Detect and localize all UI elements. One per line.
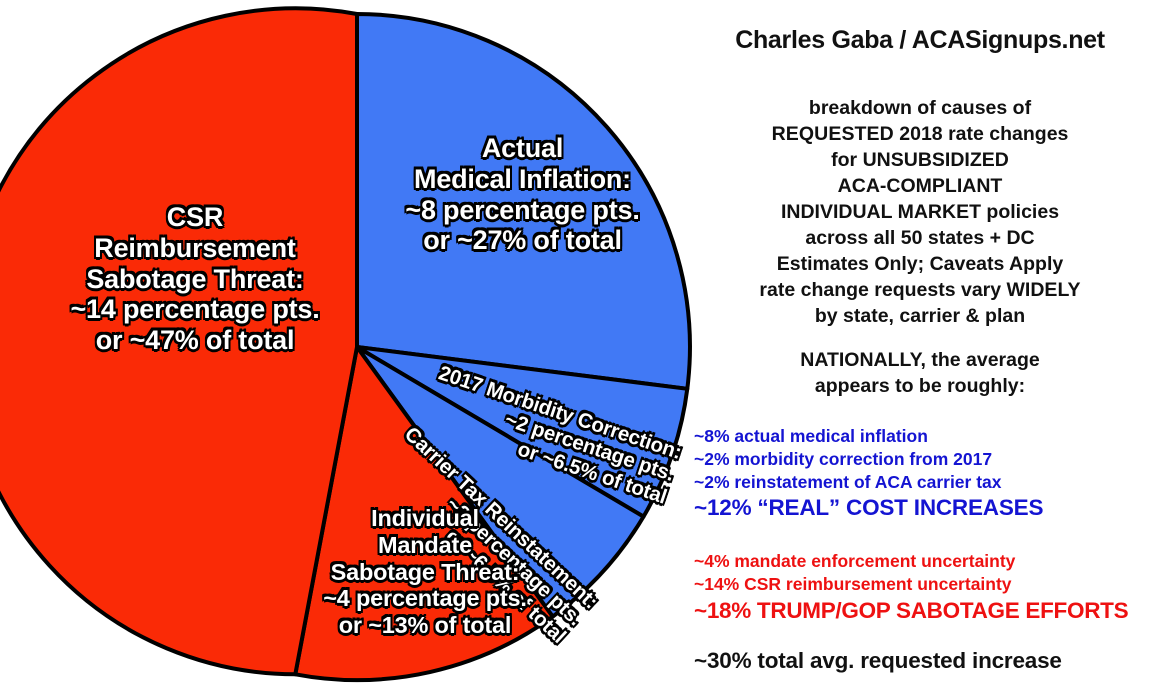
description-emphasis: REQUESTED: [772, 123, 894, 145]
description-line-1: breakdown of causes of: [690, 96, 1150, 122]
caveats-line-3: by state, carrier & plan: [690, 304, 1150, 330]
real-cost-stat-carrier-tax: ~2% reinstatement of ACA carrier tax: [694, 471, 1150, 494]
real-cost-stat-total: ~12% “REAL” COST INCREASES: [694, 493, 1150, 522]
description-line-5: INDIVIDUAL MARKET policies: [690, 200, 1150, 226]
sabotage-stat-csr-reimbursement: ~14% CSR reimbursement uncertainty: [694, 573, 1150, 596]
real-cost-stat-morbidity-correction: ~2% morbidity correction from 2017: [694, 448, 1150, 471]
national-line-1: NATIONALLY, the average: [690, 348, 1150, 374]
description-line-2-rest: 2018 rate changes: [894, 123, 1069, 145]
national-average-block: NATIONALLY, the average appears to be ro…: [690, 348, 1150, 400]
grand-total-line: ~30% total avg. requested increase: [690, 648, 1150, 674]
description-line-3: for UNSUBSIDIZED: [690, 148, 1150, 174]
pie-chart-panel: CSR Reimbursement Sabotage Threat: ~14 p…: [0, 0, 700, 700]
info-panel: Charles Gaba / ACASignups.net breakdown …: [690, 0, 1150, 700]
sabotage-stats-block: ~4% mandate enforcement uncertainty ~14%…: [690, 550, 1150, 625]
real-cost-stat-medical-inflation: ~8% actual medical inflation: [694, 425, 1150, 448]
description-line-2: REQUESTED 2018 rate changes: [690, 122, 1150, 148]
sabotage-stat-total: ~18% TRUMP/GOP SABOTAGE EFFORTS: [694, 596, 1150, 625]
pie-slice-actual-medical-inflation[interactable]: [357, 14, 690, 389]
pie-chart-svg: [0, 0, 700, 700]
caveats-line-2: rate change requests vary WIDELY: [690, 278, 1150, 304]
description-line-4: ACA-COMPLIANT: [690, 174, 1150, 200]
national-line-2: appears to be roughly:: [690, 374, 1150, 400]
real-cost-stats-block: ~8% actual medical inflation ~2% morbidi…: [690, 425, 1150, 523]
credit-line: Charles Gaba / ACASignups.net: [690, 26, 1150, 55]
description-block: breakdown of causes of REQUESTED 2018 ra…: [690, 96, 1150, 252]
caveats-line-1: Estimates Only; Caveats Apply: [690, 252, 1150, 278]
sabotage-stat-mandate-enforcement: ~4% mandate enforcement uncertainty: [694, 550, 1150, 573]
caveats-block: Estimates Only; Caveats Apply rate chang…: [690, 252, 1150, 330]
pie-slice-csr-reimbursement-sabotage-threat[interactable]: [0, 8, 357, 674]
description-line-6: across all 50 states + DC: [690, 226, 1150, 252]
